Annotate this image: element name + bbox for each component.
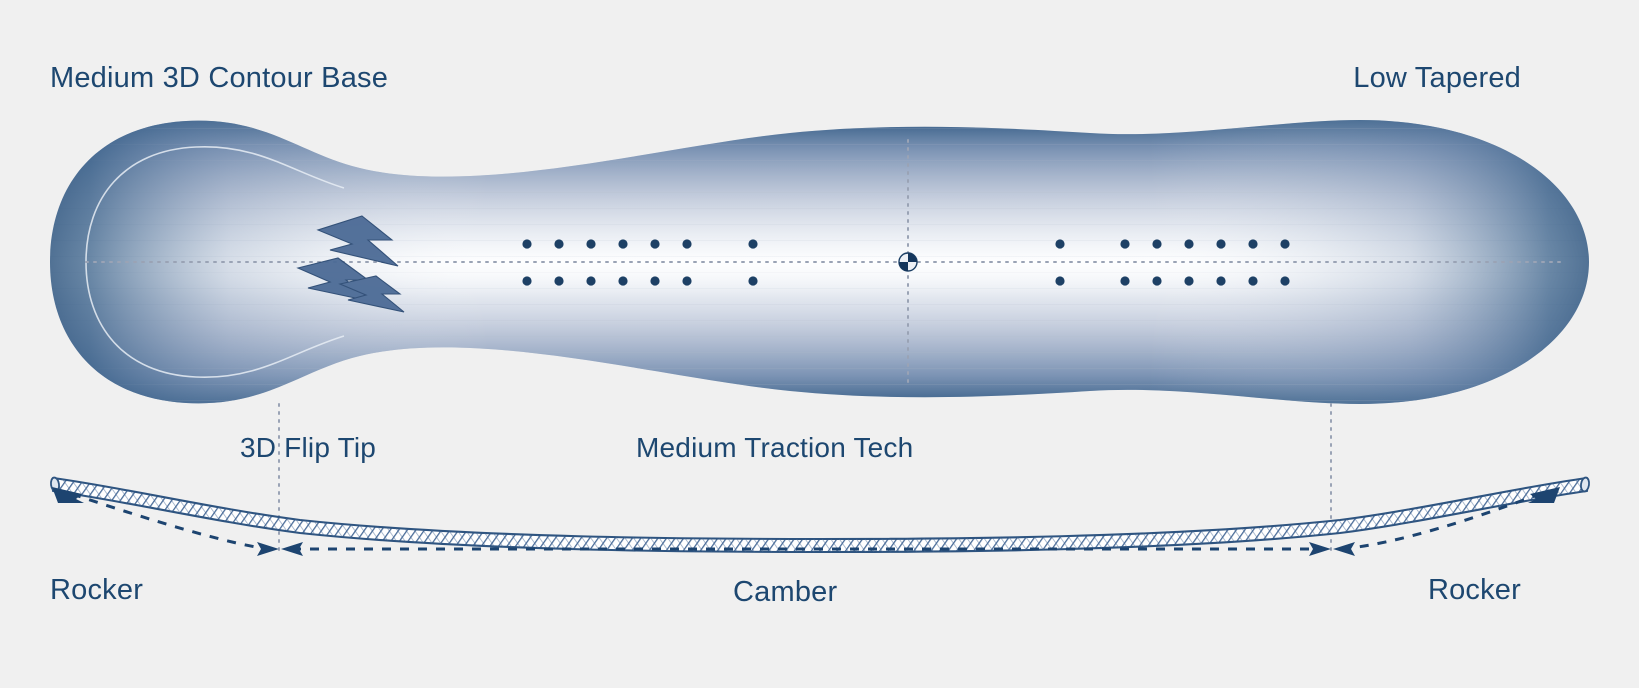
label-tapered: Low Tapered [1353,62,1521,95]
label-rocker-left: Rocker [50,574,143,607]
label-flip-tip: 3D Flip Tip [240,432,376,464]
label-camber: Camber [733,576,837,609]
snowboard-tech-diagram: Medium 3D Contour Base Low Tapered 3D Fl… [0,0,1639,688]
label-rocker-right: Rocker [1428,574,1521,607]
board-profile-shape [50,477,1590,552]
label-traction-tech: Medium Traction Tech [636,432,913,464]
label-contour-base: Medium 3D Contour Base [50,62,388,95]
